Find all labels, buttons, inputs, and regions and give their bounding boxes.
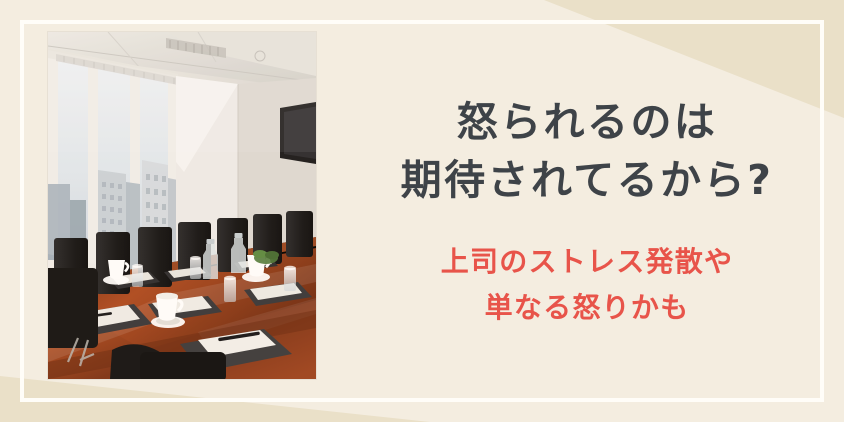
headline-line-1: 怒られるのは [457, 93, 718, 151]
headline-line-2: 期待されてるから? [401, 151, 774, 209]
subheading-line-1: 上司のストレス発散や [441, 241, 734, 283]
banner-canvas: 怒られるのは 期待されてるから? 上司のストレス発散や 単なる怒りかも [0, 0, 844, 422]
conference-room-illustration [48, 32, 316, 379]
subheading-line-2: 単なる怒りかも [485, 287, 690, 329]
text-column: 怒られるのは 期待されてるから? 上司のストレス発散や 単なる怒りかも [330, 0, 844, 422]
conference-room-photo [48, 32, 316, 379]
